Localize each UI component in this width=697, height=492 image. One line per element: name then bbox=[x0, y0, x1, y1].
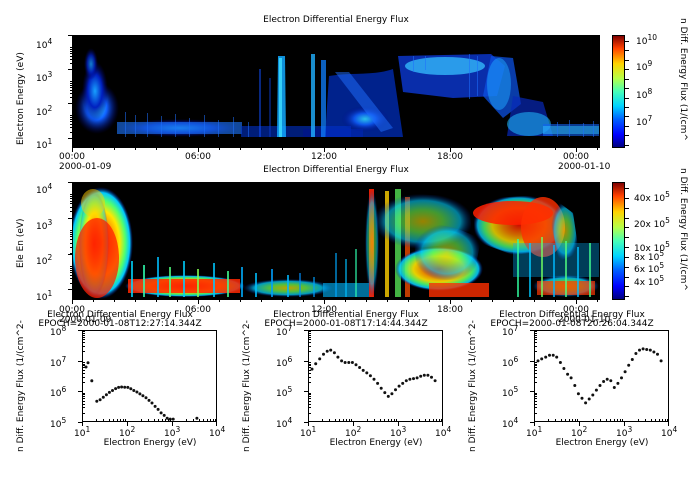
panel-spectrum-2-yminor bbox=[308, 351, 311, 352]
panel-spectrum-3-xlabel: Electron Energy (eV) bbox=[512, 438, 692, 448]
panel-spectrum-2-yminor bbox=[308, 331, 311, 332]
panel1-cbar-tick bbox=[625, 107, 629, 108]
panel-spectrum-1-yminor bbox=[82, 401, 85, 402]
panel-spectrum-3-xminor bbox=[617, 419, 618, 422]
panel1-xminor bbox=[366, 148, 367, 150]
panel1-ytick-mark bbox=[68, 35, 72, 36]
panel-spectrum-3-xminor bbox=[665, 419, 666, 422]
panel-spectrum-2-yminor bbox=[308, 337, 311, 338]
panel-spectrum-2-xtick-1: 102 bbox=[345, 425, 361, 439]
panel-spectrum-1-xminor bbox=[162, 419, 163, 422]
panel-spectrum-2-ytick-1: 105 bbox=[276, 385, 292, 399]
panel-spectrum-2-xminor bbox=[346, 419, 347, 422]
panel-spectrum-2-yminor bbox=[308, 365, 311, 366]
panel-spectrum-1-xminor bbox=[125, 419, 126, 422]
panel-spectrum-1-yminor bbox=[82, 407, 85, 408]
panel-spectrum-3-yminor bbox=[534, 346, 537, 347]
panel-spectrum-3-xminor bbox=[659, 419, 660, 422]
panel-spectrum-2-xminor bbox=[394, 419, 395, 422]
panel-spectrum-1-yminor bbox=[82, 365, 85, 366]
panel-spectrum-1-yminor bbox=[82, 393, 85, 394]
panel2-cbar-tick bbox=[625, 286, 629, 287]
panel1-xminor bbox=[156, 148, 157, 150]
panel-spectrum-1-xminor bbox=[215, 419, 216, 422]
panel-spectrum-1-yminor bbox=[82, 404, 85, 405]
panel-spectrum-3-yminor bbox=[534, 339, 537, 340]
panel-spectrum-1-yminor bbox=[82, 367, 85, 368]
panel-spectrum-1-xlabel: Electron Energy (eV) bbox=[60, 438, 240, 448]
panel1-cbar-tick bbox=[625, 116, 629, 117]
panel2-xminor bbox=[303, 300, 304, 302]
panel2-colorbar bbox=[612, 182, 625, 300]
panel-spectrum-3-xminor bbox=[622, 419, 623, 422]
panel-spectrum-3-ytick-0: 104 bbox=[502, 416, 518, 430]
panel-spectrum-1-xminor bbox=[96, 419, 97, 422]
panel1-xminor bbox=[408, 148, 409, 150]
panel-spectrum-2-yminor bbox=[308, 404, 311, 405]
panel1-plot-area[interactable] bbox=[72, 35, 600, 148]
panel2-xminor bbox=[135, 300, 136, 302]
panel2-ytick-1: 101 bbox=[36, 289, 52, 303]
panel2-xminor bbox=[366, 300, 367, 302]
panel1-yminor bbox=[70, 97, 72, 98]
panel-spectrum-1-xtick-3: 104 bbox=[209, 425, 225, 439]
panel1-xtick-3: 18:00 bbox=[437, 152, 463, 162]
panel1-xminor bbox=[513, 148, 514, 150]
panel-spectrum-3-ylabel: n Diff. Energy Flux (1/(cm^2- bbox=[468, 320, 478, 452]
panel-spectrum-3-yminor bbox=[534, 393, 537, 394]
panel1-xminor bbox=[135, 148, 136, 150]
panel-spectrum-3-xmajor-3 bbox=[668, 422, 669, 426]
panel1-xminor bbox=[261, 148, 262, 150]
panel-spectrum-3-yminor bbox=[534, 337, 537, 338]
panel-spectrum-2-yminor bbox=[308, 382, 311, 383]
panel-spectrum-1-xminor bbox=[154, 419, 155, 422]
panel2-yminor bbox=[70, 201, 72, 202]
panel-spectrum-3-xminor bbox=[651, 419, 652, 422]
panel-spectrum-3-xminor bbox=[638, 419, 639, 422]
panel-spectrum-1-xminor bbox=[207, 419, 208, 422]
panel-spectrum-1-yminor bbox=[82, 364, 85, 365]
panel-spectrum-3-yminor bbox=[534, 373, 537, 374]
panel-spectrum-2-yminor bbox=[308, 370, 311, 371]
panel-spectrum-3-xminor bbox=[606, 419, 607, 422]
panel1-yminor bbox=[70, 81, 72, 82]
panel-spectrum-2-xlabel: Electron Energy (eV) bbox=[286, 438, 466, 448]
panel1-yminor bbox=[70, 85, 72, 86]
panel-spectrum-2-xminor bbox=[384, 419, 385, 422]
panel-spectrum-3-xmajor-0 bbox=[534, 422, 535, 426]
panel-spectrum-2-xminor bbox=[343, 419, 344, 422]
panel-spectrum-3-yminor bbox=[534, 335, 537, 336]
panel-spectrum-2-xtick-2: 103 bbox=[390, 425, 406, 439]
panel1-cbar-tick bbox=[625, 50, 629, 51]
panel2-xminor bbox=[282, 300, 283, 302]
panel1-cbar-tick bbox=[625, 135, 629, 136]
panel-spectrum-1-xtick-0: 101 bbox=[74, 425, 90, 439]
panel-spectrum-2-epoch: EPOCH=2000-01-08T17:14:44.344Z bbox=[236, 319, 456, 329]
panel1-yminor bbox=[70, 117, 72, 118]
panel2-title: Electron Differential Energy Flux bbox=[72, 165, 600, 175]
panel-spectrum-3-xminor bbox=[565, 419, 566, 422]
panel1-colorbar-label: n Diff. Energy Flux (1/(cm^ bbox=[678, 18, 688, 141]
panel-spectrum-3-xminor bbox=[572, 419, 573, 422]
panel-spectrum-1-xminor bbox=[170, 419, 171, 422]
panel-spectrum-3-yminor bbox=[534, 364, 537, 365]
panel2-xminor bbox=[198, 300, 199, 302]
panel2-yminor bbox=[70, 194, 72, 195]
panel1-yminor bbox=[70, 59, 72, 60]
panel-spectrum-2-xmajor-3 bbox=[442, 422, 443, 426]
panel1-xminor bbox=[198, 148, 199, 150]
panel-spectrum-2-yminor bbox=[308, 394, 311, 395]
panel-spectrum-3-yminor bbox=[534, 398, 537, 399]
panel-spectrum-3-yminor bbox=[534, 367, 537, 368]
panel1-xminor bbox=[324, 148, 325, 150]
panel2-cbar-tick-40: 40x 105 bbox=[634, 190, 670, 204]
panel-spectrum-2-xminor bbox=[436, 419, 437, 422]
panel-spectrum-1-xmajor-2 bbox=[172, 422, 173, 426]
panel-spectrum-2-xminor bbox=[388, 419, 389, 422]
panel1-cbar-tick bbox=[625, 69, 629, 70]
panel-spectrum-3-ytick-2: 106 bbox=[502, 355, 518, 369]
panel-spectrum-3-yminor bbox=[534, 331, 537, 332]
panel1-colorbar bbox=[612, 35, 625, 148]
panel-spectrum-2-xminor bbox=[441, 419, 442, 422]
panel-spectrum-3-yminor bbox=[534, 362, 537, 363]
panel1-cbar-tick bbox=[625, 88, 629, 89]
panel-spectrum-1-yminor bbox=[82, 331, 85, 332]
panel2-yminor bbox=[70, 196, 72, 197]
panel-spectrum-2-xmajor-0 bbox=[308, 422, 309, 426]
panel-spectrum-1-ytick-3: 108 bbox=[50, 324, 66, 338]
panel-spectrum-1-xtick-2: 103 bbox=[164, 425, 180, 439]
panel-spectrum-3-ytick-3: 107 bbox=[502, 324, 518, 338]
panel-spectrum-1-xminor bbox=[123, 419, 124, 422]
panel-spectrum-3-xmajor-1 bbox=[579, 422, 580, 426]
panel2-yminor bbox=[70, 275, 72, 276]
panel1-ylabel: Electron Energy (eV) bbox=[16, 52, 26, 145]
panel1-cbar-tick bbox=[625, 145, 629, 146]
panel1-yminor bbox=[70, 124, 72, 125]
panel1-xminor bbox=[450, 148, 451, 150]
panel-spectrum-2-xminor bbox=[339, 419, 340, 422]
panel2-yminor bbox=[70, 289, 72, 290]
panel2-colorbar-label: n Diff. Energy Flux (1/(cm^ bbox=[678, 168, 688, 291]
panel1-cbar-tick-7: 107 bbox=[636, 114, 652, 128]
panel1-cbar-tick bbox=[625, 126, 629, 127]
panel-spectrum-3-yminor bbox=[534, 370, 537, 371]
panel1-yminor bbox=[70, 121, 72, 122]
panel1-xminor bbox=[93, 148, 94, 150]
panel-spectrum-2-xminor bbox=[380, 419, 381, 422]
panel-spectrum-2-ylabel: n Diff. Energy Flux (1/(cm^2- bbox=[242, 320, 252, 452]
panel1-cbar-tick-8: 108 bbox=[636, 87, 652, 101]
panel-spectrum-3-xminor bbox=[575, 419, 576, 422]
panel-spectrum-3-xminor bbox=[662, 419, 663, 422]
panel1-xminor bbox=[303, 148, 304, 150]
panel1-ytick-4: 104 bbox=[36, 37, 52, 51]
panel2-xminor bbox=[450, 300, 451, 302]
panel1-xminor bbox=[387, 148, 388, 150]
panel1-xminor bbox=[240, 148, 241, 150]
panel1-xminor bbox=[597, 148, 598, 150]
panel-spectrum-1-xminor bbox=[203, 419, 204, 422]
panel1-cbar-tick bbox=[625, 60, 629, 61]
panel-spectrum-2-yminor bbox=[308, 342, 311, 343]
panel-spectrum-2-xminor bbox=[439, 419, 440, 422]
panel-spectrum-2-xminor bbox=[374, 419, 375, 422]
panel1-yminor bbox=[70, 69, 72, 70]
panel-spectrum-1-xminor bbox=[168, 419, 169, 422]
panel2-xminor bbox=[534, 300, 535, 302]
panel-spectrum-2-ytick-0: 104 bbox=[276, 416, 292, 430]
panel1-cbar-tick-10: 1010 bbox=[636, 33, 657, 47]
panel-spectrum-1-xminor bbox=[117, 419, 118, 422]
panel1-yminor bbox=[70, 103, 72, 104]
panel2-xminor bbox=[576, 300, 577, 302]
panel2-cbar-tick-4: 4x 105 bbox=[634, 274, 664, 288]
panel-spectrum-3-yminor bbox=[534, 382, 537, 383]
panel-spectrum-2-ytick-2: 106 bbox=[276, 355, 292, 369]
panel1-yminor bbox=[70, 93, 72, 94]
panel1-xminor bbox=[555, 148, 556, 150]
panel-spectrum-1-epoch: EPOCH=2000-01-08T12:27:14.344Z bbox=[10, 319, 230, 329]
panel-spectrum-3-xminor bbox=[667, 419, 668, 422]
panel1-xtick-1: 06:00 bbox=[185, 152, 211, 162]
panel2-xminor bbox=[72, 300, 73, 302]
panel2-cbar-tick bbox=[625, 267, 629, 268]
panel-spectrum-2-plot-area[interactable] bbox=[308, 330, 443, 422]
panel-spectrum-3-xminor bbox=[655, 419, 656, 422]
panel-spectrum-3-yminor bbox=[534, 351, 537, 352]
panel-spectrum-1-xmajor-3 bbox=[216, 422, 217, 426]
panel-spectrum-1-xmajor-0 bbox=[82, 422, 83, 426]
panel-spectrum-3-yminor bbox=[534, 407, 537, 408]
panel2-yminor bbox=[70, 243, 72, 244]
panel-spectrum-3-xminor bbox=[614, 419, 615, 422]
panel-spectrum-3-xminor bbox=[548, 419, 549, 422]
panel-spectrum-1-yminor bbox=[82, 362, 85, 363]
panel1-cbar-tick bbox=[625, 79, 629, 80]
panel-spectrum-3-xminor bbox=[561, 419, 562, 422]
panel-spectrum-3-yminor bbox=[534, 394, 537, 395]
panel-spectrum-1-xminor bbox=[141, 419, 142, 422]
panel-spectrum-1-yminor bbox=[82, 351, 85, 352]
panel2-yminor bbox=[70, 278, 72, 279]
panel2-plot-area[interactable] bbox=[72, 182, 600, 300]
panel1-yminor bbox=[70, 51, 72, 52]
panel-spectrum-1-yminor bbox=[82, 333, 85, 334]
panel-spectrum-2-yminor bbox=[308, 346, 311, 347]
panel-spectrum-1-xminor bbox=[199, 419, 200, 422]
panel2-cbar-tick bbox=[625, 296, 629, 297]
panel-spectrum-2-xmajor-1 bbox=[353, 422, 354, 426]
panel2-xminor bbox=[261, 300, 262, 302]
panel1-yminor bbox=[70, 115, 72, 116]
panel-spectrum-1-ytick-0: 105 bbox=[50, 416, 66, 430]
panel1-xminor bbox=[219, 148, 220, 150]
panel-spectrum-1-xminor bbox=[210, 419, 211, 422]
panel-spectrum-2-yminor bbox=[308, 339, 311, 340]
panel2-yminor bbox=[70, 283, 72, 284]
panel2-ytick-3: 103 bbox=[36, 218, 52, 232]
panel2-cbar-tick-20: 20x 105 bbox=[634, 216, 670, 230]
panel2-yminor bbox=[70, 211, 72, 212]
panel2-cbar-tick bbox=[625, 237, 629, 238]
panel-spectrum-2-xmajor-2 bbox=[398, 422, 399, 426]
panel-spectrum-2-yminor bbox=[308, 413, 311, 414]
panel1-title: Electron Differential Energy Flux bbox=[72, 15, 600, 25]
panel-spectrum-3-ymajor-3 bbox=[530, 422, 534, 423]
panel-spectrum-1-yminor bbox=[82, 373, 85, 374]
panel1-xminor bbox=[114, 148, 115, 150]
panel2-ytick-2: 102 bbox=[36, 253, 52, 267]
panel2-xminor bbox=[513, 300, 514, 302]
panel2-yminor bbox=[70, 272, 72, 273]
panel-spectrum-2-xminor bbox=[425, 419, 426, 422]
panel1-ytick-2: 102 bbox=[36, 104, 52, 118]
panel1-yminor bbox=[70, 90, 72, 91]
panel-spectrum-2-xtick-3: 104 bbox=[435, 425, 451, 439]
panel-spectrum-2-xminor bbox=[367, 419, 368, 422]
panel2-xminor bbox=[345, 300, 346, 302]
panel1-cbar-tick bbox=[625, 41, 629, 42]
panel2-ylabel: Ele En (eV) bbox=[16, 218, 26, 268]
panel-spectrum-3-yminor bbox=[534, 396, 537, 397]
panel-spectrum-3-xtick-1: 102 bbox=[571, 425, 587, 439]
panel1-yminor bbox=[70, 53, 72, 54]
panel2-xminor bbox=[387, 300, 388, 302]
panel-spectrum-2-yminor bbox=[308, 393, 311, 394]
panel-spectrum-3-xminor bbox=[555, 419, 556, 422]
panel1-xminor bbox=[345, 148, 346, 150]
panel-spectrum-1-yminor bbox=[82, 396, 85, 397]
panel2-yminor bbox=[70, 230, 72, 231]
panel2-yminor bbox=[70, 270, 72, 271]
panel-spectrum-1-xminor bbox=[165, 419, 166, 422]
panel2-cbar-tick bbox=[625, 247, 629, 248]
panel-spectrum-2-ymajor-3 bbox=[304, 422, 308, 423]
panel2-cbar-tick bbox=[625, 208, 629, 209]
panel2-yminor bbox=[70, 232, 72, 233]
panel-spectrum-1-yminor bbox=[82, 346, 85, 347]
panel-spectrum-2-yminor bbox=[308, 373, 311, 374]
panel-spectrum-2-xminor bbox=[329, 419, 330, 422]
panel-spectrum-3-xminor bbox=[569, 419, 570, 422]
panel-spectrum-1-yminor bbox=[82, 398, 85, 399]
panel-spectrum-1-xminor bbox=[186, 419, 187, 422]
panel-spectrum-3-plot-area[interactable] bbox=[534, 330, 669, 422]
panel1-xminor bbox=[429, 148, 430, 150]
panel2-xminor bbox=[219, 300, 220, 302]
panel-spectrum-2-yminor bbox=[308, 362, 311, 363]
panel1-xminor bbox=[492, 148, 493, 150]
panel2-yminor bbox=[70, 218, 72, 219]
panel-spectrum-2-xminor bbox=[349, 419, 350, 422]
panel1-yminor bbox=[70, 63, 72, 64]
panel1-ytick-1: 101 bbox=[36, 137, 52, 151]
panel-spectrum-2-yminor bbox=[308, 364, 311, 365]
panel-spectrum-1-yminor bbox=[82, 377, 85, 378]
panel1-yminor bbox=[70, 83, 72, 84]
panel1-yminor bbox=[70, 138, 72, 139]
panel-spectrum-1-xtick-1: 102 bbox=[119, 425, 135, 439]
panel-spectrum-1-xmajor-1 bbox=[127, 422, 128, 426]
panel-spectrum-1-xminor bbox=[148, 419, 149, 422]
panel-spectrum-3-xminor bbox=[593, 419, 594, 422]
panel1-xtick-4: 00:00 bbox=[563, 152, 589, 162]
panel-spectrum-1-xminor bbox=[113, 419, 114, 422]
panel2-yminor bbox=[70, 198, 72, 199]
panel-spectrum-2-yminor bbox=[308, 335, 311, 336]
panel2-ytick-mark bbox=[68, 182, 72, 183]
panel-spectrum-3-xtick-3: 104 bbox=[661, 425, 677, 439]
panel-spectrum-1-ymajor-3 bbox=[78, 422, 82, 423]
panel-spectrum-3-yminor bbox=[534, 365, 537, 366]
panel-spectrum-3-xminor bbox=[577, 419, 578, 422]
panel2-yminor bbox=[70, 247, 72, 248]
panel-spectrum-1-yminor bbox=[82, 370, 85, 371]
panel-spectrum-3-yminor bbox=[534, 377, 537, 378]
panel2-cbar-tick bbox=[625, 227, 629, 228]
panel-spectrum-3-yminor bbox=[534, 401, 537, 402]
panel-spectrum-3-xtick-2: 103 bbox=[616, 425, 632, 439]
panel-spectrum-1-yminor bbox=[82, 339, 85, 340]
panel2-xminor bbox=[408, 300, 409, 302]
panel2-cbar-tick bbox=[625, 277, 629, 278]
panel1-yminor bbox=[70, 49, 72, 50]
panel-spectrum-1-yminor bbox=[82, 342, 85, 343]
panel-spectrum-2-xminor bbox=[391, 419, 392, 422]
panel1-ytick-3: 103 bbox=[36, 70, 52, 84]
panel-spectrum-1-plot-area[interactable] bbox=[82, 330, 217, 422]
panel2-xminor bbox=[177, 300, 178, 302]
panel-spectrum-1-yminor bbox=[82, 382, 85, 383]
panel-spectrum-3-xtick-0: 101 bbox=[526, 425, 542, 439]
panel-spectrum-2-yminor bbox=[308, 333, 311, 334]
panel-spectrum-1-xminor bbox=[103, 419, 104, 422]
panel-spectrum-3-xminor bbox=[620, 419, 621, 422]
panel2-yminor bbox=[70, 239, 72, 240]
panel1-xtick-2: 12:00 bbox=[311, 152, 337, 162]
panel-spectrum-2-xminor bbox=[351, 419, 352, 422]
panel1-yminor bbox=[70, 132, 72, 133]
panel2-cbar-tick-6: 6x 105 bbox=[634, 261, 664, 275]
panel-spectrum-1-xminor bbox=[193, 419, 194, 422]
panel-spectrum-2-yminor bbox=[308, 377, 311, 378]
panel2-xminor bbox=[240, 300, 241, 302]
panel2-ytick-4: 104 bbox=[36, 182, 52, 196]
panel2-xminor bbox=[471, 300, 472, 302]
panel-spectrum-1-xminor bbox=[120, 419, 121, 422]
panel2-yminor bbox=[70, 234, 72, 235]
panel2-xminor bbox=[492, 300, 493, 302]
panel-spectrum-2-yminor bbox=[308, 407, 311, 408]
panel1-yminor bbox=[70, 47, 72, 48]
panel-spectrum-2-yminor bbox=[308, 398, 311, 399]
panel-spectrum-3-xmajor-2 bbox=[624, 422, 625, 426]
panel-spectrum-3-yminor bbox=[534, 342, 537, 343]
panel1-xtick-0: 00:00 bbox=[59, 152, 85, 162]
panel2-cbar-tick bbox=[625, 188, 629, 189]
panel-spectrum-1-yminor bbox=[82, 337, 85, 338]
panel-spectrum-1-yminor bbox=[82, 413, 85, 414]
panel-spectrum-2-yminor bbox=[308, 367, 311, 368]
panel-spectrum-2-xminor bbox=[322, 419, 323, 422]
panel-spectrum-3-xminor bbox=[610, 419, 611, 422]
panel-spectrum-2-xminor bbox=[419, 419, 420, 422]
